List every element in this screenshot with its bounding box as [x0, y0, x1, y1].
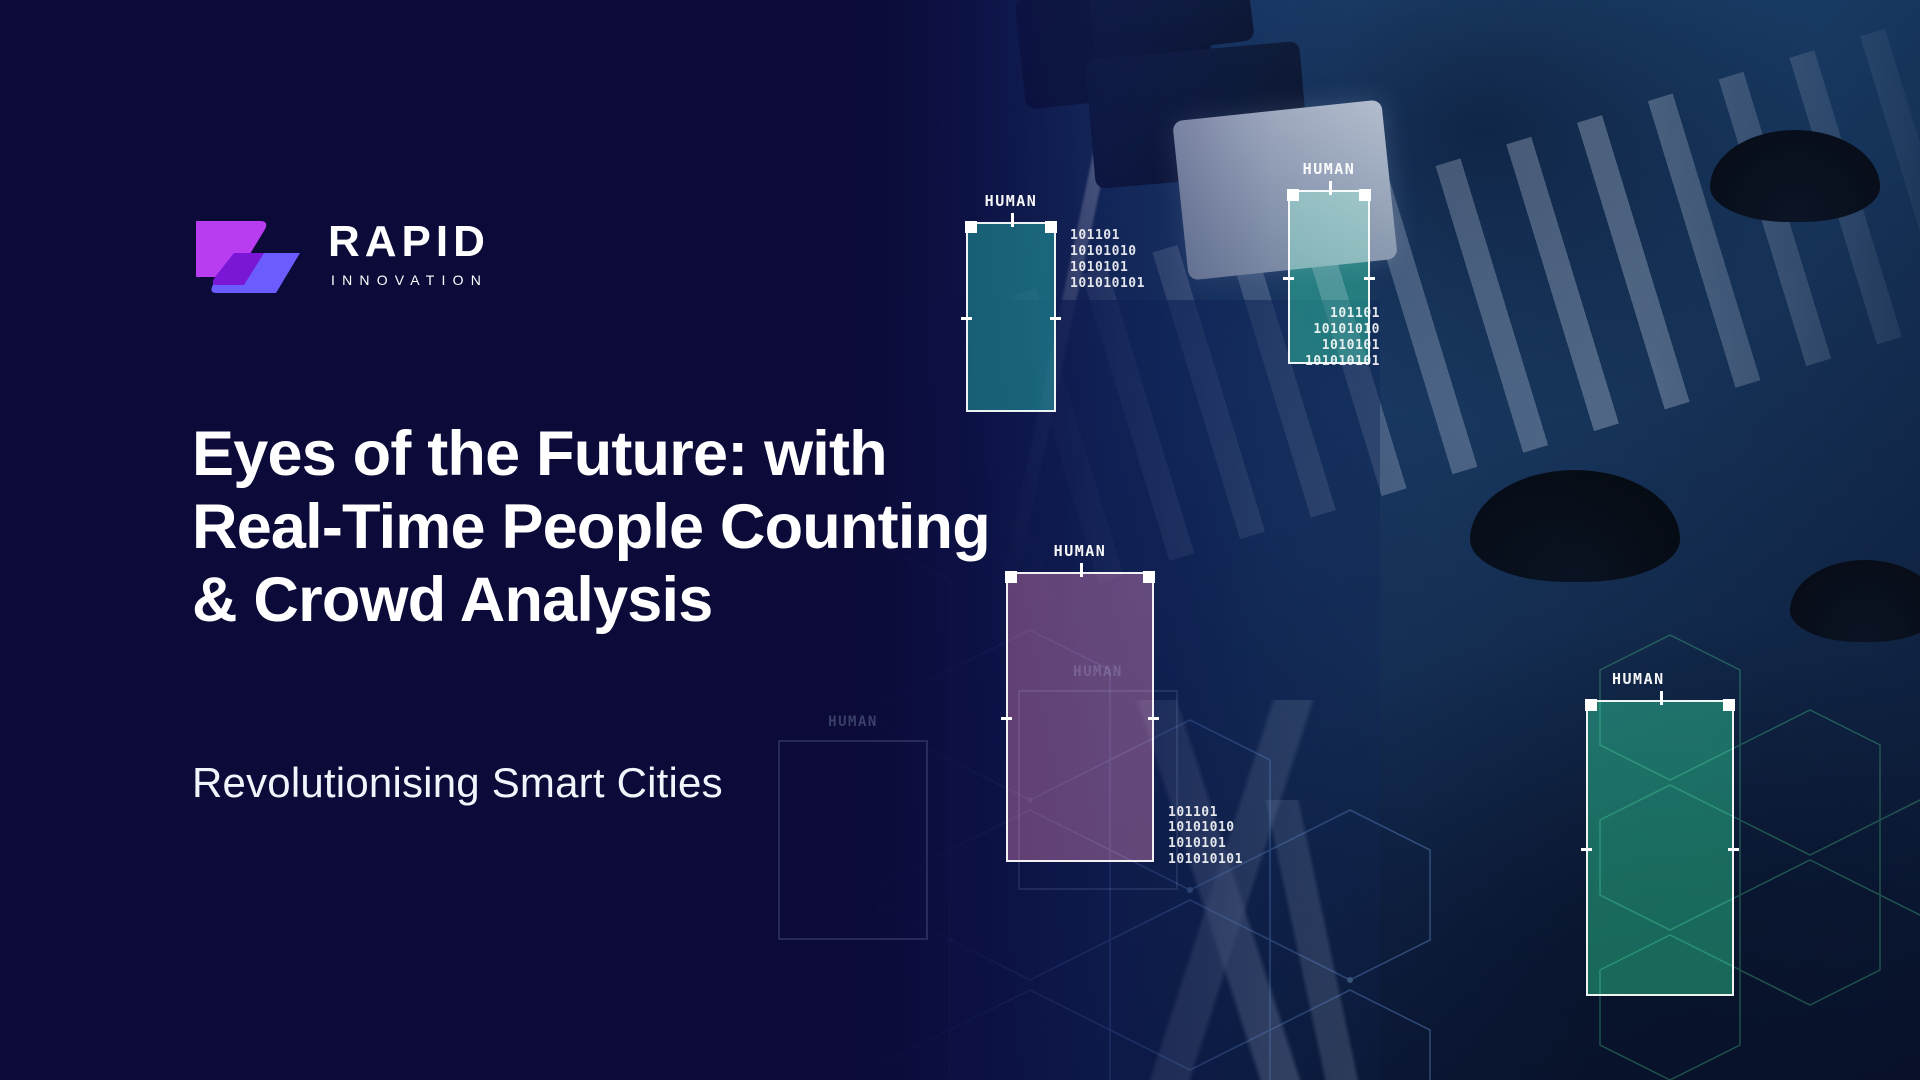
- detection-binary-readout: 101101 10101010 1010101 101010101: [1168, 805, 1243, 868]
- detection-handle-right: [1728, 848, 1739, 851]
- detection-label: HUMAN: [1303, 160, 1356, 178]
- detection-handle-left: [1581, 848, 1592, 851]
- brand-wordmark: RAPID INNOVATION: [328, 216, 490, 287]
- headline-line-1: Eyes of the Future: with: [192, 418, 1252, 491]
- brand-tagline: INNOVATION: [328, 273, 490, 287]
- detection-label: HUMAN: [1612, 670, 1665, 688]
- headline-line-2: Real-Time People Counting: [192, 491, 1252, 564]
- detection-box-cyclist[interactable]: HUMAN: [1586, 700, 1734, 996]
- brand-logo[interactable]: RAPID INNOVATION: [192, 205, 490, 297]
- detection-binary-readout: 101101 10101010 1010101 101010101: [1305, 306, 1380, 369]
- detection-handle-top: [1329, 181, 1332, 195]
- detection-handle-top: [1660, 691, 1663, 705]
- detection-frame: [1586, 700, 1734, 996]
- hero-content: RAPID INNOVATION Eyes of the Future: wit…: [0, 0, 1060, 1080]
- rapid-innovation-chevron-logo-icon: [192, 205, 304, 297]
- page-title: Eyes of the Future: with Real-Time Peopl…: [192, 418, 1252, 637]
- detection-handle-right: [1364, 277, 1375, 280]
- hero-banner: HUMAN HUMAN HUMAN 101101 10101010 101010…: [0, 0, 1920, 1080]
- detection-handle-right: [1148, 717, 1159, 720]
- headline-line-3: & Crowd Analysis: [192, 564, 1252, 637]
- detection-binary-readout: 101101 10101010 1010101 101010101: [1070, 228, 1145, 291]
- detection-box-businessman[interactable]: HUMAN 101101 10101010 1010101 101010101: [1288, 190, 1370, 364]
- brand-name: RAPID: [328, 220, 490, 264]
- detection-handle-left: [1283, 277, 1294, 280]
- page-subtitle: Revolutionising Smart Cities: [192, 759, 723, 807]
